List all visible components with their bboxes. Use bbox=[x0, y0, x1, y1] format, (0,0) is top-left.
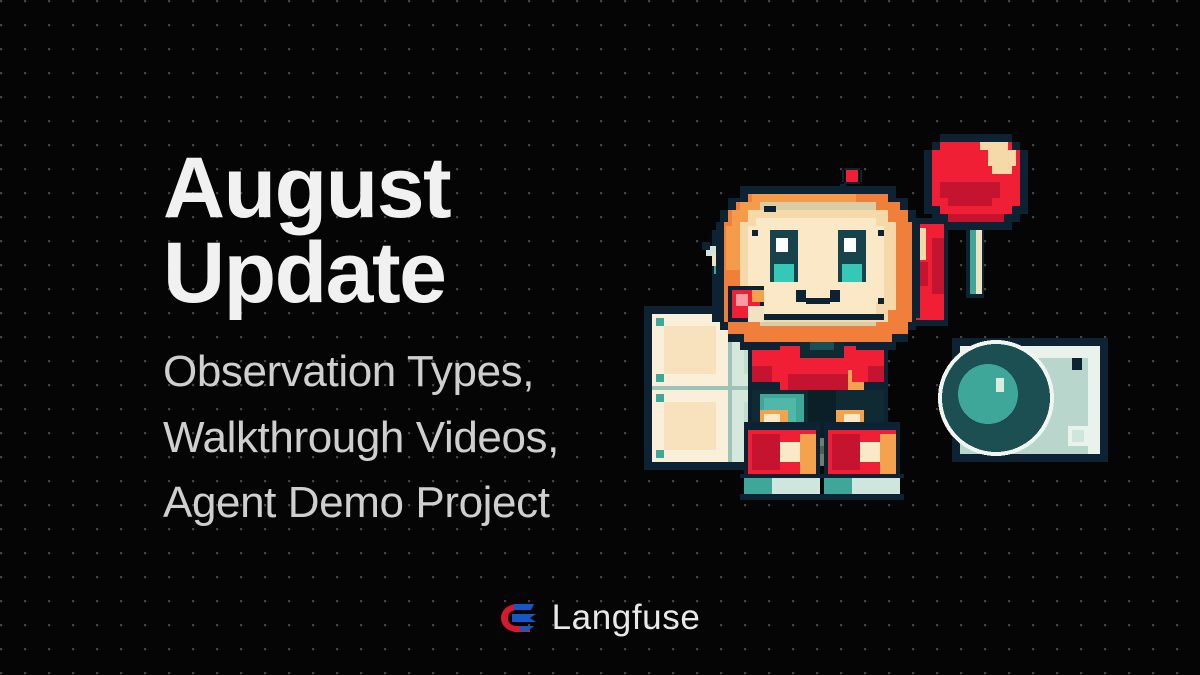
robot-eye-left bbox=[770, 230, 798, 282]
pixel-art-robot-illustration bbox=[636, 118, 1136, 518]
brand-lockup: Langfuse bbox=[0, 600, 1200, 635]
banner-canvas: August Update Observation Types, Walkthr… bbox=[0, 0, 1200, 675]
text-block: August Update Observation Types, Walkthr… bbox=[163, 146, 633, 536]
robot-boot-left bbox=[740, 422, 824, 500]
page-title: August Update bbox=[163, 146, 633, 316]
brand-name: Langfuse bbox=[552, 600, 701, 635]
record-panel bbox=[940, 338, 1108, 462]
langfuse-logo-icon bbox=[500, 602, 538, 634]
robot-head bbox=[716, 186, 920, 350]
page-subtitle: Observation Types, Walkthrough Videos, A… bbox=[163, 339, 633, 536]
robot-eye-right bbox=[838, 230, 866, 282]
held-ball-icon bbox=[728, 286, 764, 322]
robot-boot-right bbox=[820, 422, 904, 500]
